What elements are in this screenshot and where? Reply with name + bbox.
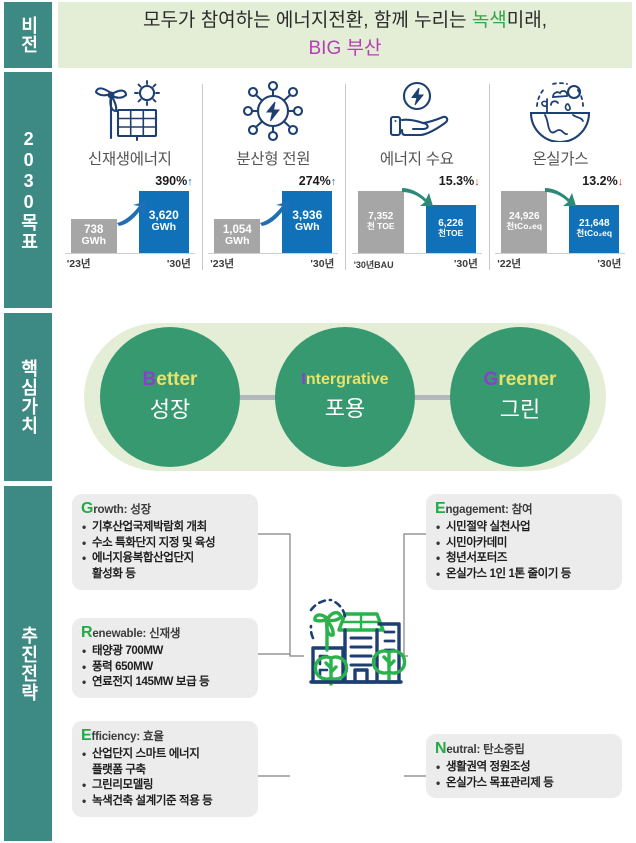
xaxis-label-target: '30년 [597, 256, 621, 271]
chart-axis [208, 253, 338, 254]
rail-section-strategies: 추진전략 [4, 486, 52, 841]
goal-card-greenhouse-gas: 온실가스 13.2%↓ 24,926 천tCo₂eq 21,648 천tCo₂e… [489, 74, 633, 306]
list-item: 청년서포터즈 [435, 551, 613, 567]
core-values-section: Better 성장 Intergrative 포용 Greener 그린 [58, 313, 632, 481]
goal-title: 분산형 전원 [236, 147, 310, 169]
list-item: 생활권역 정원조성 [435, 760, 613, 776]
strategies-section: Growth: 성장 기후산업국제박람회 개최 수소 특화단지 지정 및 육성 … [58, 486, 632, 841]
strategy-box-engagement: Engagement: 참여 시민절약 실천사업 시민아카데미 청년서포터즈 온… [426, 494, 622, 590]
strategy-word: enewable [92, 628, 142, 640]
distributed-power-icon [238, 78, 308, 144]
list-item: 온실가스 목표관리제 등 [435, 776, 613, 792]
bar-target-unit: 천tCo₂eq [576, 229, 612, 238]
goal-chart: 13.2%↓ 24,926 천tCo₂eq 21,648 천tCo₂eq '22… [493, 175, 627, 271]
core-value-ko: 성장 [150, 392, 190, 424]
goal-change: 15.3%↓ [439, 174, 480, 188]
goal-change-arrow: ↑ [331, 176, 337, 188]
core-value-en: Better [143, 370, 198, 391]
strategy-ko: 신재생 [149, 628, 180, 640]
core-value-ko: 그린 [500, 392, 540, 424]
list-item: 풍력 650MW [81, 660, 249, 676]
chart-axis [352, 253, 482, 254]
strategy-item-list: 생활권역 정원조성 온실가스 목표관리제 등 [435, 760, 613, 791]
strategy-item-list: 시민절약 실천사업 시민아카데미 청년서포터즈 온실가스 1인 1톤 줄이기 등 [435, 520, 613, 583]
goal-change: 274%↑ [299, 174, 336, 188]
strategy-ko: 효율 [143, 731, 164, 743]
rail-label-vision: 비전 [17, 16, 38, 54]
strategy-box-growth: Growth: 성장 기후산업국제박람회 개최 수소 특화단지 지정 및 육성 … [72, 494, 258, 590]
goal-card-energy-demand: 에너지 수요 15.3%↓ 7,352 천 TOE 6,226 천TOE '30… [345, 74, 489, 306]
list-item: 산업단지 스마트 에너지 [81, 747, 249, 763]
bar-baseline: 738 GWh [71, 219, 117, 253]
strategy-box-header: Growth: 성장 [81, 500, 249, 518]
goal-chart: 390%↑ 738 GWh 3,620 GWh '23년 '30년 [63, 175, 197, 271]
trend-arrow-up-icon [258, 199, 292, 227]
bar-baseline: 1,054 GWh [214, 219, 260, 253]
goal-title: 신재생에너지 [88, 147, 172, 169]
bar-baseline-unit: GWh [82, 236, 107, 247]
xaxis-label-base: '22년 [497, 256, 521, 271]
strategy-word: rowth [93, 504, 123, 516]
strategy-box-renewable: Renewable: 신재생 태양광 700MW 풍력 650MW 연료전지 1… [72, 618, 258, 698]
strategy-initial: E [435, 500, 445, 517]
strategy-ko: 참여 [512, 504, 533, 516]
list-item: 태양광 700MW [81, 644, 249, 660]
goal-change-arrow: ↑ [187, 176, 193, 188]
strategy-initial: R [81, 624, 92, 641]
vision-line1-part2: 미래, [507, 10, 547, 31]
list-item: 수소 특화단지 지정 및 육성 [81, 536, 249, 552]
goals-section: 신재생에너지 390%↑ 738 GWh 3,620 GWh '23년 [58, 74, 632, 306]
goal-change-value: 13.2% [582, 174, 617, 188]
strategy-box-header: Engagement: 참여 [435, 500, 613, 518]
vision-line1-part1: 모두가 참여하는 에너지전환, 함께 누리는 [143, 10, 472, 31]
rail-section-vision: 비전 [4, 2, 52, 68]
core-value-initial: G [484, 369, 499, 390]
list-item-continuation: 플랫폼 구축 [81, 763, 249, 779]
list-item: 시민아카데미 [435, 536, 613, 552]
strategy-word: eutral [446, 744, 476, 756]
bar-baseline-unit: GWh [225, 236, 250, 247]
infographic-page: 비전 2030목표 핵심가치 추진전략 모두가 참여하는 에너지전환, 함께 누… [0, 0, 636, 843]
goal-chart: 274%↑ 1,054 GWh 3,936 GWh '23년 '30년 [206, 175, 340, 271]
bar-target-unit: GWh [295, 222, 320, 233]
core-value-ko: 포용 [325, 391, 365, 423]
strategy-initial: E [81, 727, 91, 744]
strategy-ko: 탄소중립 [483, 744, 525, 756]
goal-change-value: 390% [155, 174, 187, 188]
list-item: 에너지융복합산업단지 [81, 551, 249, 567]
core-connector-2 [415, 395, 453, 400]
goal-change-arrow: ↓ [618, 176, 624, 188]
list-item: 온실가스 1인 1톤 줄이기 등 [435, 567, 613, 583]
trend-arrow-down-icon [400, 185, 434, 213]
rail-section-goals: 2030목표 [4, 72, 52, 308]
eco-city-icon [301, 586, 411, 696]
hand-energy-icon [383, 78, 451, 144]
trend-arrow-down-icon [543, 185, 577, 213]
xaxis-label-base: '23년 [210, 256, 234, 271]
xaxis-label-target: '30년 [454, 256, 478, 271]
core-value-initial: B [143, 369, 157, 390]
strategy-box-neutral: Neutral: 탄소중립 생활권역 정원조성 온실가스 목표관리제 등 [426, 734, 622, 798]
goal-change-value: 274% [299, 174, 331, 188]
trend-arrow-up-icon [115, 199, 149, 227]
goal-chart: 15.3%↓ 7,352 천 TOE 6,226 천TOE '30년BAU '3… [350, 175, 484, 271]
list-item: 녹색건축 설계기준 적용 등 [81, 794, 249, 810]
goal-card-renewable: 신재생에너지 390%↑ 738 GWh 3,620 GWh '23년 [58, 74, 202, 306]
list-item: 기후산업국제박람회 개최 [81, 520, 249, 536]
goal-title: 에너지 수요 [380, 147, 454, 169]
strategy-box-efficiency: Efficiency: 효율 산업단지 스마트 에너지 플랫폼 구축 그린리모델… [72, 721, 258, 817]
wind-solar-icon [92, 78, 168, 144]
list-item: 연료전지 145MW 보급 등 [81, 675, 249, 691]
core-value-rest: reener [498, 369, 556, 390]
strategy-box-header: Neutral: 탄소중립 [435, 740, 613, 758]
strategy-initial: G [81, 500, 93, 517]
strategy-item-list: 산업단지 스마트 에너지 플랫폼 구축 그린리모델링 녹색건축 설계기준 적용 … [81, 747, 249, 810]
core-value-integrative: Intergrative 포용 [275, 327, 415, 467]
strategy-item-list: 기후산업국제박람회 개최 수소 특화단지 지정 및 육성 에너지융복합산업단지 … [81, 520, 249, 583]
strategy-box-header: Efficiency: 효율 [81, 727, 249, 745]
xaxis-label-target: '30년 [310, 256, 334, 271]
list-item: 그린리모델링 [81, 778, 249, 794]
core-value-en: Greener [484, 370, 557, 391]
strategy-box-header: Renewable: 신재생 [81, 624, 249, 642]
core-value-en: Intergrative [301, 371, 388, 389]
xaxis-label-base: '23년 [67, 256, 91, 271]
goal-title: 온실가스 [532, 147, 588, 169]
goal-change: 13.2%↓ [582, 174, 623, 188]
goal-card-distributed-power: 분산형 전원 274%↑ 1,054 GWh 3,936 GWh '23년 [202, 74, 346, 306]
goal-change-arrow: ↓ [474, 176, 480, 188]
core-value-rest: etter [156, 369, 197, 390]
vision-line1-highlight: 녹색 [472, 10, 507, 31]
rail-label-goals: 2030목표 [17, 129, 38, 251]
goal-change-value: 15.3% [439, 174, 474, 188]
strategy-word: fficiency [91, 731, 136, 743]
strategy-word: ngagement [445, 504, 505, 516]
chart-axis [495, 253, 625, 254]
bar-target-unit: 천TOE [438, 229, 463, 238]
core-connector-1 [240, 395, 278, 400]
vision-banner: 모두가 참여하는 에너지전환, 함께 누리는 녹색미래, BIG 부산 [58, 2, 632, 68]
xaxis-label-base: '30년BAU [354, 258, 394, 271]
vision-text: 모두가 참여하는 에너지전환, 함께 누리는 녹색미래, BIG 부산 [143, 7, 547, 62]
chart-axis [65, 253, 195, 254]
bar-baseline: 7,352 천 TOE [358, 191, 404, 253]
goal-change: 390%↑ [155, 174, 192, 188]
bar-baseline-unit: 천 TOE [367, 222, 395, 231]
earth-greenhouse-icon [523, 78, 597, 144]
bar-target-unit: GWh [152, 222, 177, 233]
bar-baseline-unit: 천tCo₂eq [506, 222, 542, 231]
bar-baseline: 24,926 천tCo₂eq [501, 191, 547, 253]
strategy-ko: 성장 [130, 504, 151, 516]
rail-section-core-values: 핵심가치 [4, 313, 52, 481]
rail-label-core-values: 핵심가치 [17, 359, 38, 435]
core-value-better: Better 성장 [100, 327, 240, 467]
strategy-item-list: 태양광 700MW 풍력 650MW 연료전지 145MW 보급 등 [81, 644, 249, 691]
core-value-greener: Greener 그린 [450, 327, 590, 467]
list-item-continuation: 활성화 등 [81, 567, 249, 583]
strategy-initial: N [435, 740, 446, 757]
list-item: 시민절약 실천사업 [435, 520, 613, 536]
vision-line2: BIG 부산 [309, 38, 382, 59]
rail-label-strategies: 추진전략 [17, 626, 38, 702]
core-value-rest: ntergrative [306, 371, 389, 388]
xaxis-label-target: '30년 [167, 256, 191, 271]
